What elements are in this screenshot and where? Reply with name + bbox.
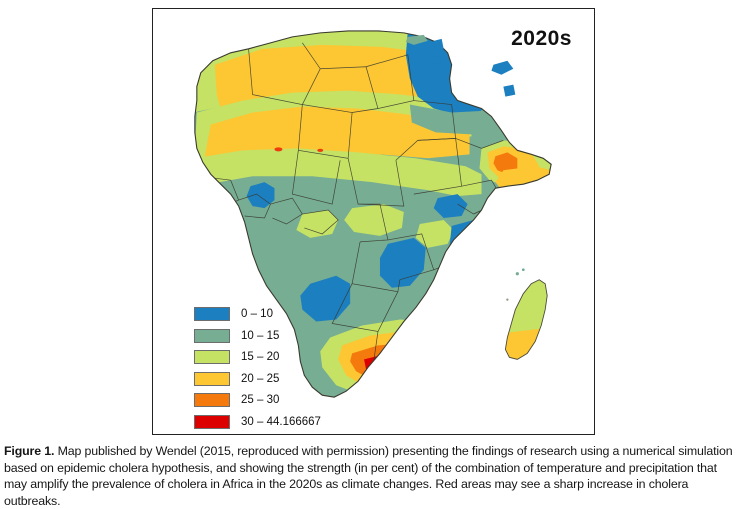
figure-frame: 2020s 0 – 10 10 – 15 15 – 20 20 – 25 25 … xyxy=(152,8,595,435)
legend-item: 30 – 44.166667 xyxy=(194,413,354,431)
area-sierraleone-blue-patch xyxy=(211,204,239,218)
legend-item: 0 – 10 xyxy=(194,305,354,323)
area-guinea-blue-patch xyxy=(195,180,223,208)
map-legend: 0 – 10 10 – 15 15 – 20 20 – 25 25 – 30 3… xyxy=(194,305,354,434)
area-southsudan-blue-0-10 xyxy=(450,220,486,254)
area-mali-point xyxy=(274,147,282,151)
legend-label-20-25: 20 – 25 xyxy=(241,373,279,385)
legend-item: 25 – 30 xyxy=(194,391,354,409)
area-somalia-south-blue xyxy=(466,270,504,296)
area-niger-point xyxy=(317,149,323,152)
legend-label-10-15: 10 – 15 xyxy=(241,330,279,342)
legend-swatch-15-20 xyxy=(194,350,230,364)
legend-swatch-20-25 xyxy=(194,372,230,386)
caption-label: Figure 1. xyxy=(4,444,54,458)
legend-item: 20 – 25 xyxy=(194,370,354,388)
legend-label-0-10: 0 – 10 xyxy=(241,308,273,320)
era-title: 2020s xyxy=(511,27,572,51)
area-tanzania-15-20 xyxy=(438,296,472,324)
legend-swatch-0-10 xyxy=(194,307,230,321)
legend-swatch-10-15 xyxy=(194,329,230,343)
island-comoros-2 xyxy=(522,268,525,271)
island-comoros xyxy=(516,272,519,275)
area-kenya-15-20 xyxy=(454,254,488,282)
figure-caption: Figure 1. Map published by Wendel (2015,… xyxy=(4,443,741,509)
island-arabia-bit-2 xyxy=(503,85,515,97)
island-small-dot xyxy=(506,298,508,300)
island-arabia-bit xyxy=(491,61,513,75)
legend-item: 10 – 15 xyxy=(194,327,354,345)
legend-swatch-30-44 xyxy=(194,415,230,429)
legend-swatch-25-30 xyxy=(194,393,230,407)
legend-item: 15 – 20 xyxy=(194,348,354,366)
caption-text: Map published by Wendel (2015, reproduce… xyxy=(4,444,732,508)
legend-label-25-30: 25 – 30 xyxy=(241,394,279,406)
legend-label-30-44: 30 – 44.166667 xyxy=(241,416,321,428)
legend-label-15-20: 15 – 20 xyxy=(241,351,279,363)
mada-band-20-25-south xyxy=(499,328,551,370)
